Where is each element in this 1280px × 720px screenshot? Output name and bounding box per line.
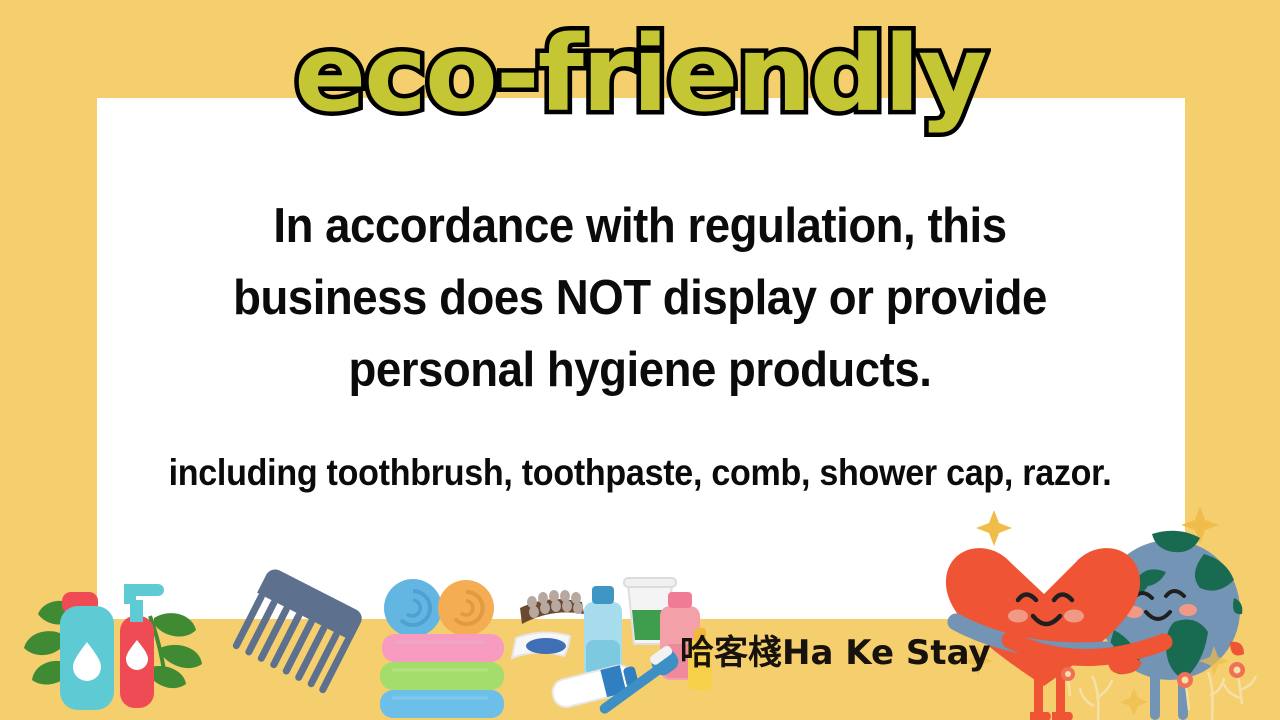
leaf-sprig-right bbox=[148, 613, 202, 688]
soap-bottles-illustration bbox=[8, 556, 238, 720]
body-line-1: In accordance with regulation, this bbox=[175, 190, 1105, 262]
flower-small-far-right bbox=[1224, 662, 1256, 704]
hair-comb bbox=[230, 566, 365, 694]
grass-sprig-left bbox=[1080, 676, 1112, 720]
body-line-2: business does NOT display or provide bbox=[175, 262, 1105, 334]
rolled-towel-blue bbox=[384, 579, 442, 637]
poster-sub-copy: including toothbrush, toothpaste, comb, … bbox=[125, 450, 1155, 496]
blue-bottle bbox=[584, 586, 622, 678]
soap-bar bbox=[512, 632, 570, 658]
towels-illustration bbox=[372, 572, 512, 720]
towel-stack bbox=[380, 634, 504, 718]
poster-body-copy: In accordance with regulation, this busi… bbox=[175, 190, 1105, 406]
comb-illustration bbox=[232, 560, 362, 720]
poster-canvas: eco-friendly In accordance with regulati… bbox=[0, 0, 1280, 720]
grass-sprig-right bbox=[1208, 672, 1224, 720]
teal-lotion-bottle bbox=[60, 592, 114, 710]
rolled-towel-orange bbox=[438, 580, 494, 636]
scrub-brush bbox=[520, 590, 584, 624]
sparkle-icon-left bbox=[976, 510, 1012, 546]
body-line-3: personal hygiene products. bbox=[175, 334, 1105, 406]
brand-name: 哈客棧Ha Ke Stay bbox=[680, 625, 991, 674]
heart-earth-illustration bbox=[938, 498, 1280, 720]
sparkle-icon-bottom-mid bbox=[1120, 688, 1148, 716]
